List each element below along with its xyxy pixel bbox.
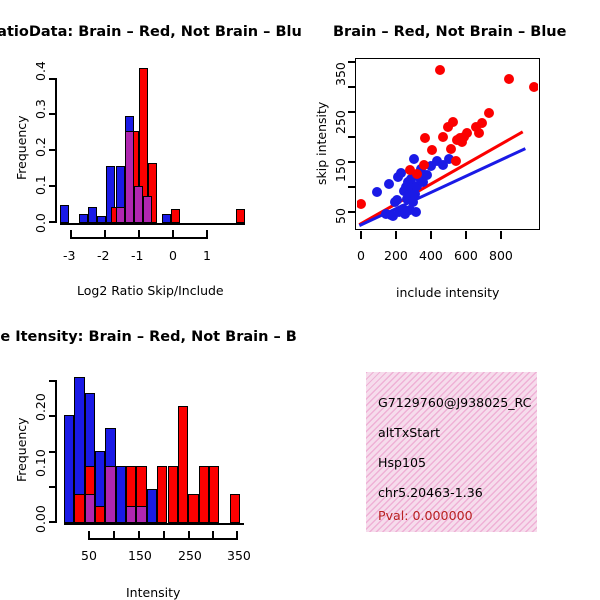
scatter-point-red [484,108,494,118]
scatter-ytick-mark-50 [348,211,355,213]
ratio-xtick--1: -1 [131,248,143,263]
ratio-ytick-mark-4 [49,78,55,80]
scatter-point-red [504,74,514,84]
scatter-point-red [462,128,472,138]
scatter-ytick-mark-250 [348,111,355,113]
ratio-ytick-mark-0 [49,221,55,223]
intensity-ytick-mark-0.05 [49,486,55,488]
intensity-ytick-mark-0.00 [49,521,55,523]
intensity-bar-red [188,494,198,523]
intensity-bar-red [95,506,105,523]
info-locus: chr5.20463-1.36 [378,485,483,500]
intensity-bar-red [168,466,178,523]
ratio-bar-blue [97,216,106,223]
scatter-ytick-mark-200 [348,136,355,138]
ratio-ytick-mark-3 [49,113,55,115]
intensity-ytick-mark-0.20 [49,380,55,382]
scatter-xtick-mark-600 [465,231,467,239]
ratio-xtick-1: 1 [203,248,211,263]
intensity-bar-blue [64,415,74,524]
info-event-type: altTxStart [378,425,440,440]
scatter-ytick-350: 350 [333,62,348,86]
scatter-xtick-mark-0 [360,231,362,239]
scatter-point-red [448,117,458,127]
scatter-xtick-600: 600 [454,248,478,263]
scatter-point-blue [384,179,394,189]
intensity-bar-overlap [85,494,95,523]
ratio-bar-blue [88,207,97,223]
scatter-point-blue [411,207,421,217]
intensity-yaxis-line [55,380,57,523]
scatter-xtick-400: 400 [419,248,443,263]
intensity-histogram-title: ne Itensity: Brain – Red, Not Brain – B [0,329,297,345]
ratio-histogram-title: RatioData: Brain – Red, Not Brain – Blu [0,24,302,40]
ratio-xtick-mark-1 [206,230,208,239]
ratio-ytick-4: 0.4 [33,61,48,81]
intensity-bar-red [157,466,167,523]
ratio-xtick-mark--3 [70,230,72,239]
scatter-point-red [477,118,487,128]
intensity-xtick-mark-350 [236,531,238,540]
scatter-point-red [412,169,422,179]
intensity-xtick-mark-150 [138,531,140,540]
scatter-xtick-200: 200 [384,248,408,263]
intensity-xtick-mark-100 [113,531,115,540]
scatter-point-red [419,160,429,170]
scatter-xtick-800: 800 [489,248,513,263]
panel-ratio-histogram: RatioData: Brain – Red, Not Brain – Blu … [0,0,300,300]
intensity-ytick-mark-0.15 [49,415,55,417]
info-gene-name: Hsp105 [378,455,426,470]
scatter-xlabel: include intensity [396,285,499,300]
ratio-bar-blue [79,214,88,223]
intensity-bar-red [199,466,209,523]
intensity-bar-overlap [105,466,115,523]
ratio-histogram-bars [60,63,245,223]
scatter-plot-area [357,60,538,228]
intensity-xtick-mark-200 [163,531,165,540]
scatter-xtick-mark-200 [395,231,397,239]
scatter-point-red [474,128,484,138]
ratio-ytick-1: 0.1 [33,175,48,195]
scatter-point-blue [422,170,432,180]
ratio-xtick-0: 0 [169,248,177,263]
ratio-bar-red [171,209,180,223]
intensity-bar-red [74,494,84,523]
scatter-xtick-mark-800 [500,231,502,239]
scatter-point-red [451,156,461,166]
scatter-title: Brain – Red, Not Brain – Blue [333,24,566,40]
intensity-histogram-xlabel: Intensity [126,585,180,600]
ratio-bar-overlap [116,207,125,223]
ratio-histogram-xlabel: Log2 Ratio Skip/Include [77,283,224,298]
ratio-bar-blue [162,214,171,223]
intensity-histogram-bars [64,371,244,523]
intensity-bar-overlap [136,506,146,523]
scatter-point-red [435,65,445,75]
scatter-point-red [446,144,456,154]
intensity-ytick-2: 0.20 [33,393,48,421]
intensity-bar-blue [116,466,126,523]
ratio-ytick-0: 0.0 [33,213,48,233]
intensity-xtick-250: 250 [178,548,202,563]
intensity-ytick-mark-0.10 [49,451,55,453]
scatter-ytick-50: 50 [333,208,348,224]
ratio-xtick--2: -2 [97,248,109,263]
scatter-ytick-mark-150 [348,161,355,163]
info-probe-id: G7129760@J938025_RC [378,395,531,410]
ratio-ytick-3: 0.3 [33,99,48,119]
scatter-ytick-mark-350 [348,61,355,63]
ratio-ytick-mark-2 [49,149,55,151]
ratio-bar-overlap [134,186,143,223]
intensity-xtick-mark-250 [188,531,190,540]
ratio-xtick-mark-0 [172,230,174,239]
intensity-xtick-350: 350 [227,548,251,563]
ratio-ytick-2: 0.2 [33,137,48,157]
gene-info-box: G7129760@J938025_RC altTxStart Hsp105 ch… [366,372,537,532]
scatter-point-red [357,199,366,209]
scatter-ytick-150: 150 [333,158,348,182]
scatter-ytick-mark-100 [348,186,355,188]
info-pval: Pval: 0.000000 [378,508,473,523]
scatter-point-red [420,133,430,143]
scatter-ytick-250: 250 [333,110,348,134]
scatter-point-red [529,82,538,92]
ratio-bar-overlap [143,196,152,223]
intensity-xaxis-line [64,523,244,525]
intensity-bar-red [230,494,240,523]
scatter-point-red [427,145,437,155]
intensity-xtick-mark-50 [88,531,90,540]
scatter-point-red [438,132,448,142]
intensity-xtick-50: 50 [81,548,97,563]
scatter-point-blue [372,187,382,197]
ratio-yaxis-line [55,78,57,223]
panel-gene-info: G7129760@J938025_RC altTxStart Hsp105 ch… [300,300,600,600]
intensity-bar-blue [147,489,157,524]
scatter-ylabel: skip intensity [314,102,329,185]
intensity-histogram-ylabel: Frequency [14,417,29,482]
intensity-xtick-150: 150 [128,548,152,563]
scatter-point-blue [409,154,419,164]
ratio-xtick-mark--2 [104,230,106,239]
scatter-xtick-0: 0 [357,248,365,263]
intensity-xtick-mark-300 [212,531,214,540]
ratio-xaxis-line [60,223,245,225]
figure-canvas: RatioData: Brain – Red, Not Brain – Blu … [0,0,600,600]
panel-gene-intensity-histogram: ne Itensity: Brain – Red, Not Brain – B … [0,300,300,600]
scatter-xtick-mark-400 [430,231,432,239]
panel-intensity-scatter: Brain – Red, Not Brain – Blue skip inten… [300,0,600,300]
ratio-ytick-mark-1 [49,185,55,187]
ratio-xtick-mark--1 [138,230,140,239]
ratio-xtick--3: -3 [63,248,75,263]
intensity-ytick-0: 0.00 [33,505,48,533]
intensity-bar-red [178,406,188,524]
scatter-ytick-mark-300 [348,86,355,88]
ratio-bar-red [236,209,245,223]
ratio-bar-overlap [125,131,134,223]
ratio-bar-blue [60,205,69,223]
intensity-bar-overlap [126,506,136,523]
intensity-bar-red [209,466,219,523]
intensity-ytick-1: 0.10 [33,449,48,477]
ratio-histogram-ylabel: Frequency [14,115,29,180]
